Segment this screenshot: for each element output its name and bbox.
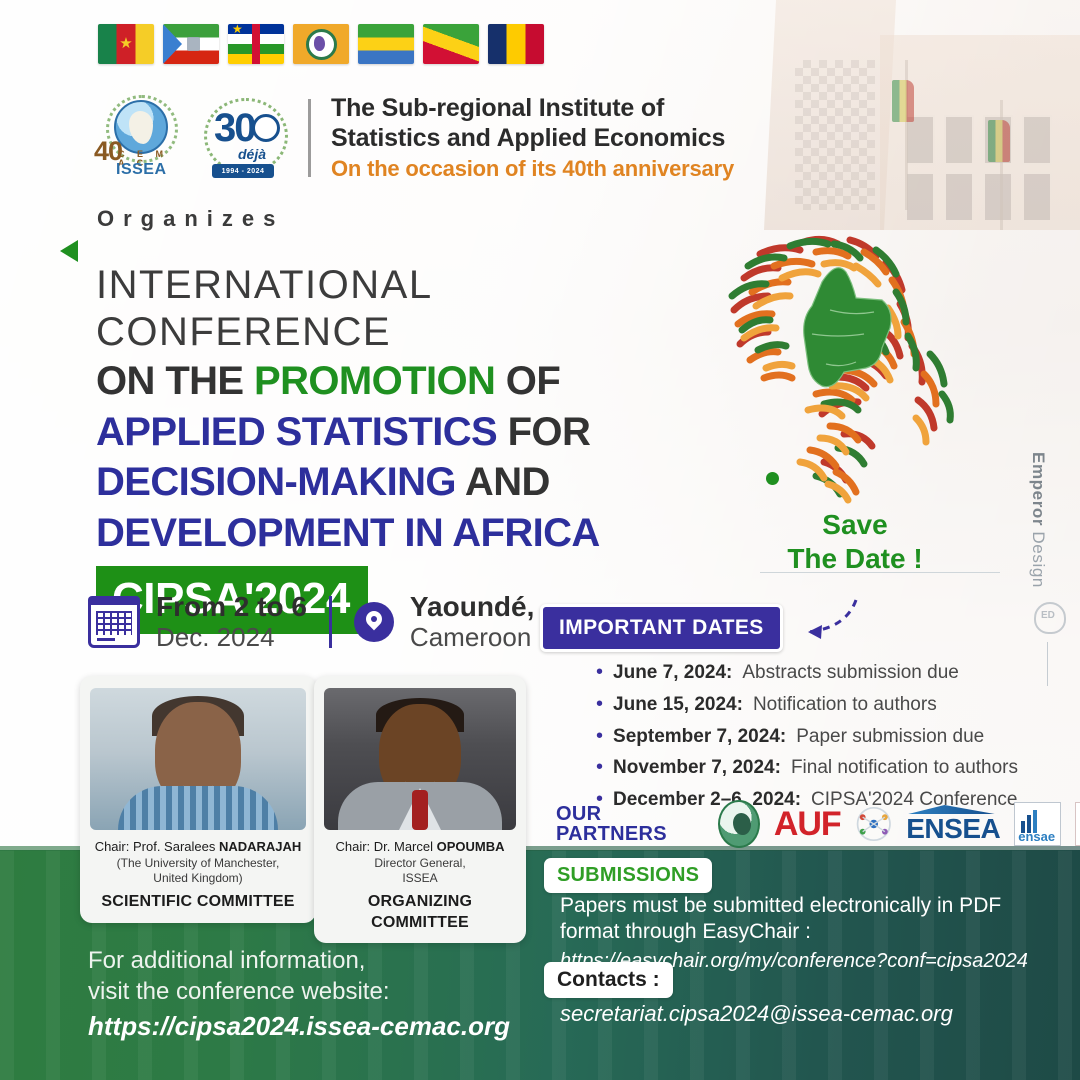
ensae-paris-logo: ENSAE [1075, 802, 1080, 846]
important-date-text: Final notification to authors [791, 757, 1018, 780]
ensae-logo-label: ensae [1018, 830, 1055, 843]
chair-surname: NADARAJAH [219, 839, 301, 854]
title-line-3: APPLIED STATISTICS FOR [96, 407, 716, 457]
date-location-divider [329, 596, 332, 648]
event-date-main: From 2 to 6 [156, 592, 307, 623]
designer-brand: Emperor [1029, 452, 1048, 526]
issea-40-logo: C E M A C 40 ISSEA [92, 92, 184, 184]
list-item: •June 7, 2024:Abstracts submission due [596, 662, 1076, 685]
important-date-text: Abstracts submission due [742, 662, 959, 685]
location-pin-icon [354, 602, 394, 642]
list-item: •November 7, 2024:Final notification to … [596, 757, 1076, 780]
gabon-flag [358, 24, 414, 64]
contact-email[interactable]: secretariat.cipsa2024@issea-cemac.org [560, 1000, 953, 1028]
website-block: For additional information, visit the co… [88, 945, 510, 1044]
committee-role-label: ORGANIZING COMMITTEE [324, 892, 516, 934]
calendar-icon [88, 596, 140, 648]
title-line-4-decision-making: DECISION-MAKING [96, 460, 456, 504]
important-date: September 7, 2024: [613, 726, 786, 749]
auf-logo: AUF [774, 807, 841, 841]
chad-flag [488, 24, 544, 64]
submissions-badge: SUBMISSIONS [544, 858, 712, 893]
bullet-icon: • [596, 662, 603, 682]
important-dates-badge: IMPORTANT DATES [540, 604, 783, 652]
list-item: •September 7, 2024: Paper submission due [596, 726, 1076, 749]
chair-photo-nadarajah [90, 688, 306, 830]
title-line-2-a: ON THE [96, 359, 254, 403]
bullet-icon: • [596, 694, 603, 714]
chair-affiliation-line1: Director General, [324, 856, 516, 872]
event-city: Yaoundé, [410, 592, 534, 623]
conference-poster: C E M A C 40 ISSEA 30 déjà 1994 - 2024 T… [0, 0, 1080, 1080]
chair-surname: OPOUMBA [437, 839, 505, 854]
chair-photo-opoumba [324, 688, 516, 830]
cemac-issea-logo [718, 800, 760, 848]
partners-title: OUR PARTNERS [556, 804, 694, 844]
designer-credit: Emperor Design [1030, 452, 1047, 588]
building-window-row [905, 115, 1052, 165]
title-line-2-c: OF [495, 359, 560, 403]
title-line-3-b: FOR [497, 410, 590, 454]
building-lattice [795, 60, 875, 210]
chair-affiliation-line2: ISSEA [324, 871, 516, 887]
green-triangle-icon [60, 240, 78, 262]
title-line-4-b: AND [456, 460, 550, 504]
list-item: •June 15, 2024:Notification to authors [596, 694, 1076, 717]
important-date: November 7, 2024: [613, 757, 781, 780]
designer-suffix: Design [1029, 526, 1048, 588]
institute-header: C E M A C 40 ISSEA 30 déjà 1994 - 2024 T… [92, 92, 734, 184]
submissions-text-line2: format through EasyChair : [560, 919, 1030, 945]
conference-title: INTERNATIONAL CONFERENCE ON THE PROMOTIO… [96, 262, 716, 634]
chair-affiliation-line1: (The University of Manchester, [90, 856, 306, 872]
cemac-emblem-flag [293, 24, 349, 64]
partners-row: OUR PARTNERS AUF ENSEA ensae ENSAE [556, 800, 1080, 848]
equatorial-guinea-flag [163, 24, 219, 64]
title-line-5: DEVELOPMENT IN AFRICA [96, 508, 716, 558]
title-line-2: ON THE PROMOTION OF [96, 356, 716, 406]
title-line-1: INTERNATIONAL CONFERENCE [96, 262, 716, 356]
ensea-logo: ENSEA [906, 805, 1000, 843]
issea-logo-acronym: ISSEA [116, 162, 167, 178]
title-line-4: DECISION-MAKING AND [96, 457, 716, 507]
anniversary-deja-label: déjà [238, 147, 266, 161]
institute-name-line2: Statistics and Applied Economics [331, 124, 734, 154]
title-line-2-promotion: PROMOTION [254, 359, 495, 403]
event-date-location-bar: From 2 to 6 Dec. 2024 Yaoundé, Cameroon [88, 592, 534, 653]
building-flag [892, 80, 914, 122]
chair-affiliation-line2: United Kingdom) [90, 871, 306, 887]
bullet-icon: • [596, 757, 603, 777]
curved-arrow-icon [772, 596, 862, 644]
save-the-date-line2: The Date ! [760, 542, 950, 576]
important-date: June 7, 2024: [613, 662, 732, 685]
important-date: June 15, 2024: [613, 694, 743, 717]
important-dates-list: •June 7, 2024:Abstracts submission due •… [556, 662, 1076, 821]
contacts-badge: Contacts : [544, 962, 673, 998]
ensae-logo: ensae [1014, 802, 1060, 846]
website-line1: For additional information, [88, 945, 510, 976]
anniversary-ribbon-years: 1994 - 2024 [212, 164, 274, 178]
scientific-committee-card: Chair: Prof. Saralees NADARAJAH (The Uni… [80, 676, 316, 923]
title-line-3-applied-statistics: APPLIED STATISTICS [96, 410, 497, 454]
submissions-text-line1: Papers must be submitted electronically … [560, 893, 1030, 919]
anniversary-number: 30 [214, 108, 255, 148]
institute-name-line1: The Sub-regional Institute of [331, 94, 734, 124]
republic-of-congo-flag [423, 24, 479, 64]
important-date-text: Paper submission due [796, 726, 984, 749]
cameroon-flag [98, 24, 154, 64]
save-the-date-line1: Save [760, 508, 950, 542]
important-date-text: Notification to authors [753, 694, 937, 717]
designer-rule [1047, 642, 1048, 686]
cemac-flags-strip [98, 24, 544, 64]
central-african-republic-flag [228, 24, 284, 64]
designer-seal-icon [1034, 602, 1066, 634]
anniversary-30-badge: 30 déjà 1994 - 2024 [198, 92, 288, 184]
organizing-committee-card: Chair: Dr. Marcel OPOUMBA Director Gener… [314, 676, 526, 943]
chair-name-prefix: Chair: Dr. Marcel [335, 839, 436, 854]
chair-name: Chair: Prof. Saralees NADARAJAH [90, 838, 306, 856]
organizes-label: Organizes [97, 208, 284, 230]
building-flag [988, 120, 1010, 162]
chair-name-prefix: Chair: Prof. Saralees [95, 839, 219, 854]
committee-role-label: SCIENTIFIC COMMITTEE [90, 892, 306, 913]
website-line2: visit the conference website: [88, 976, 510, 1007]
africa-map-graphic [704, 218, 1004, 508]
network-logo [855, 802, 893, 846]
event-date-sub: Dec. 2024 [156, 623, 307, 653]
event-country: Cameroon [410, 623, 534, 653]
bullet-icon: • [596, 726, 603, 746]
chair-name: Chair: Dr. Marcel OPOUMBA [324, 838, 516, 856]
map-green-dot [766, 472, 779, 485]
building-window-row [905, 172, 1052, 222]
save-the-date: Save The Date ! [760, 508, 950, 576]
institute-anniversary-line: On the occasion of its 40th anniversary [331, 155, 734, 183]
header-divider [308, 99, 311, 177]
conference-website-url[interactable]: https://cipsa2024.issea-cemac.org [88, 1009, 510, 1044]
